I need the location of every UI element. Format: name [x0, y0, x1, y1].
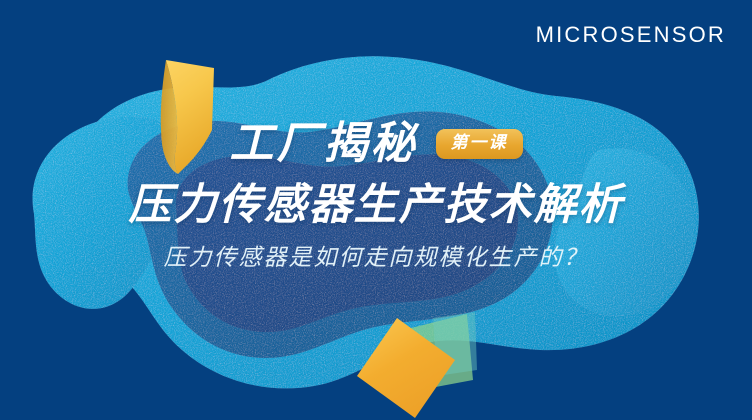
hero-title: 工厂揭秘 [230, 122, 418, 166]
promo-banner: MICROSENSOR 工厂揭秘 第一课 压力传感器生产技术解析 压力传感器是如… [0, 0, 752, 420]
hero-subtitle: 压力传感器生产技术解析 [0, 184, 752, 227]
hero-text-block: 工厂揭秘 第一课 压力传感器生产技术解析 压力传感器是如何走向规模化生产的？ [0, 118, 752, 270]
hero-tagline: 压力传感器是如何走向规模化生产的？ [0, 247, 752, 270]
gold-square-group [345, 296, 495, 420]
lesson-badge: 第一课 [436, 129, 523, 159]
brand-logo: MICROSENSOR [536, 24, 726, 46]
hero-title-row: 工厂揭秘 第一课 [0, 118, 752, 170]
